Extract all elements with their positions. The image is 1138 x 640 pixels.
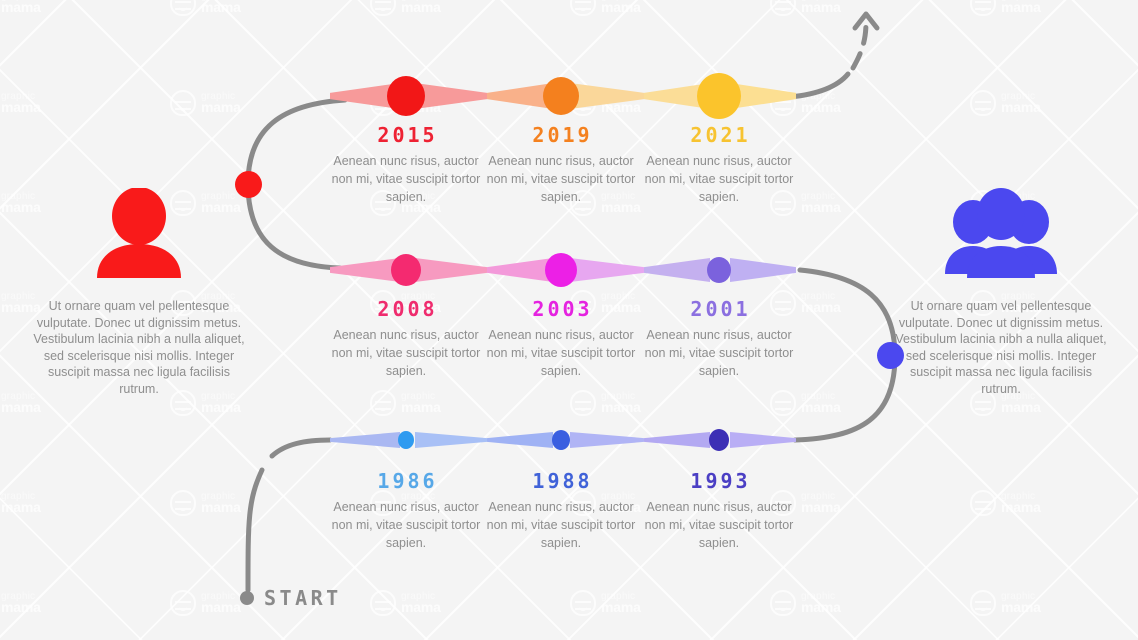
- timeline-node-dot[interactable]: [552, 430, 570, 450]
- timeline-node-dot[interactable]: [545, 253, 577, 287]
- path-bottom-left-curve: [272, 440, 330, 456]
- right-panel-text: Ut ornare quam vel pellentesque vulputat…: [893, 298, 1109, 398]
- path-start-stem: [248, 470, 262, 590]
- timeline-node-year: 1988: [477, 469, 645, 493]
- timeline-node-dot[interactable]: [398, 431, 414, 449]
- right-info-panel: Ut ornare quam vel pellentesque vulputat…: [893, 188, 1109, 398]
- timeline-node-description: Aenean nunc risus, auctor non mi, vitae …: [486, 326, 636, 380]
- timeline-node-dot[interactable]: [709, 429, 729, 451]
- timeline-infographic: graphicmamagraphicmamagraphicmamagraphic…: [0, 0, 1138, 640]
- timeline-node-year: 2008: [322, 297, 490, 321]
- timeline-node-description: Aenean nunc risus, auctor non mi, vitae …: [331, 326, 481, 380]
- timeline-node-description: Aenean nunc risus, auctor non mi, vitae …: [331, 498, 481, 552]
- path-top-right-exit: [790, 74, 848, 97]
- timeline-node-year: 2015: [322, 123, 490, 147]
- timeline-node-dot[interactable]: [391, 254, 421, 286]
- single-person-icon: [31, 188, 247, 278]
- timeline-node-description: Aenean nunc risus, auctor non mi, vitae …: [644, 326, 794, 380]
- timeline-node-year: 1986: [322, 469, 490, 493]
- left-info-panel: Ut ornare quam vel pellentesque vulputat…: [31, 188, 247, 398]
- timeline-node-dot[interactable]: [697, 73, 741, 119]
- timeline-node-year: 2021: [635, 123, 803, 147]
- timeline-node-description: Aenean nunc risus, auctor non mi, vitae …: [486, 152, 636, 206]
- timeline-node-year: 1993: [635, 469, 803, 493]
- timeline-node-year: 2003: [477, 297, 645, 321]
- timeline-node-year: 2019: [477, 123, 645, 147]
- timeline-node-dot[interactable]: [387, 76, 425, 116]
- timeline-node-year: 2001: [635, 297, 803, 321]
- timeline-node-description: Aenean nunc risus, auctor non mi, vitae …: [331, 152, 481, 206]
- timeline-node-dot[interactable]: [543, 77, 579, 115]
- timeline-node-description: Aenean nunc risus, auctor non mi, vitae …: [644, 498, 794, 552]
- left-panel-text: Ut ornare quam vel pellentesque vulputat…: [31, 298, 247, 398]
- group-people-icon: [893, 188, 1109, 278]
- start-label: START: [264, 586, 342, 610]
- timeline-node-description: Aenean nunc risus, auctor non mi, vitae …: [486, 498, 636, 552]
- start-marker: START: [240, 586, 342, 610]
- timeline-node-dot[interactable]: [707, 257, 731, 283]
- timeline-node-description: Aenean nunc risus, auctor non mi, vitae …: [644, 152, 794, 206]
- start-dot: [240, 591, 254, 605]
